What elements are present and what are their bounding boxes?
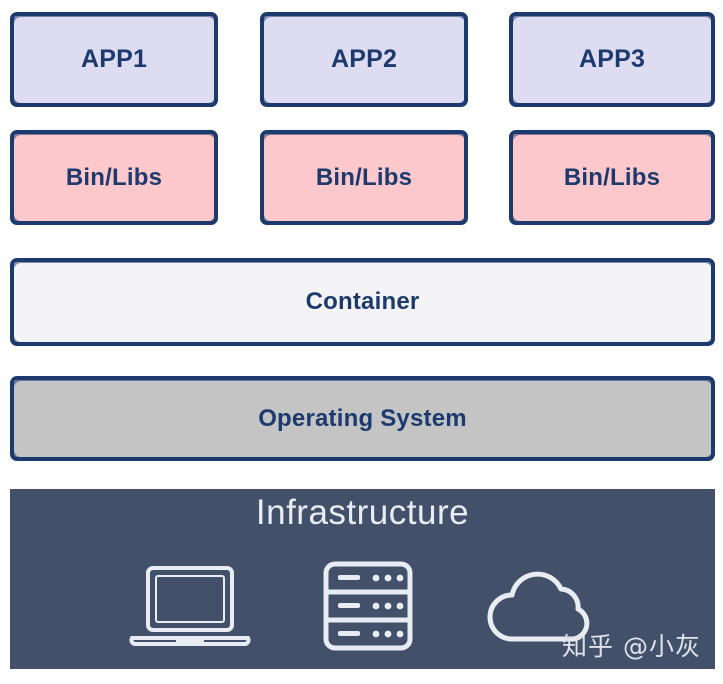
binlibs-box-1: Bin/Libs [10, 130, 218, 225]
app1-box: APP1 [10, 12, 218, 107]
app2-box: APP2 [260, 12, 468, 107]
binlibs-label-2: Bin/Libs [316, 164, 412, 192]
infrastructure-label: Infrastructure [10, 493, 715, 533]
binlibs-label-3: Bin/Libs [564, 164, 660, 192]
infrastructure-box: Infrastructure [10, 489, 715, 669]
app2-label: APP2 [331, 45, 397, 74]
app3-label: APP3 [579, 45, 645, 74]
app3-box: APP3 [509, 12, 715, 107]
binlibs-box-3: Bin/Libs [509, 130, 715, 225]
app1-label: APP1 [81, 45, 147, 74]
operating-system-box: Operating System [10, 376, 715, 461]
binlibs-box-2: Bin/Libs [260, 130, 468, 225]
laptop-icon [126, 558, 254, 654]
container-label: Container [306, 288, 420, 316]
container-box: Container [10, 258, 715, 346]
watermark-text: 知乎 @小灰 [562, 627, 701, 663]
server-rack-icon [320, 558, 416, 654]
operating-system-label: Operating System [258, 405, 467, 433]
container-architecture-diagram: APP1 APP2 APP3 Bin/Libs Bin/Libs Bin/Lib… [0, 0, 723, 684]
binlibs-label-1: Bin/Libs [66, 164, 162, 192]
